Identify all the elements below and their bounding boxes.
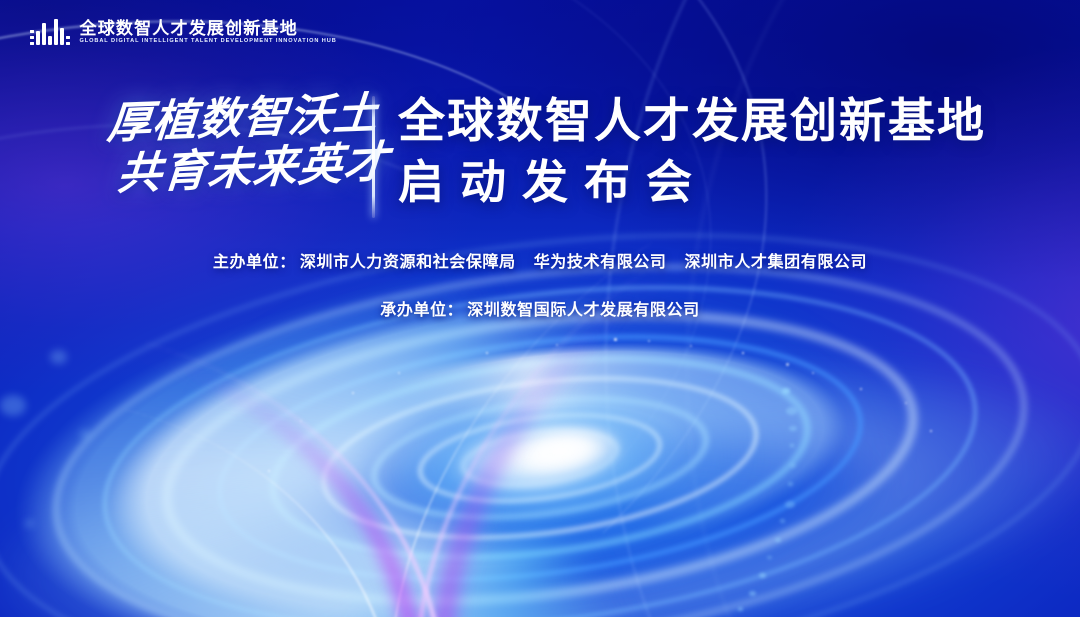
dotted-light-trail (0, 330, 350, 617)
title-line-1: 全球数智人才发展创新基地 (398, 96, 986, 147)
bokeh-dot (50, 350, 67, 364)
light-dot (790, 463, 796, 467)
title-divider (372, 96, 375, 218)
light-dot (759, 573, 766, 578)
coorganizer-line: 承办单位：深圳数智国际人才发展有限公司 (0, 296, 1080, 320)
host-organization: 华为技术有限公司 (534, 254, 667, 271)
event-banner: 全球数智人才发展创新基地 GLOBAL DIGITAL INTELLIGENT … (0, 0, 1080, 617)
brand-header: 全球数智人才发展创新基地 GLOBAL DIGITAL INTELLIGENT … (30, 18, 337, 46)
light-dot (785, 501, 795, 508)
bokeh-dot (80, 430, 90, 438)
light-dot (788, 482, 793, 486)
light-dot (780, 519, 785, 522)
light-dot (775, 538, 781, 543)
bokeh-dot (25, 520, 34, 527)
host-label: 主办单位： (213, 254, 296, 271)
bokeh-dot (0, 395, 26, 416)
organizer-block: 主办单位：深圳市人力资源和社会保障局华为技术有限公司深圳市人才集团有限公司 承办… (0, 248, 1080, 320)
host-organization: 深圳市人力资源和社会保障局 (300, 254, 516, 271)
light-dot (782, 388, 790, 393)
calligraphy-slogan: 厚植数智沃土 共育未来英才 (108, 96, 388, 192)
brand-name-en: GLOBAL DIGITAL INTELLIGENT TALENT DEVELO… (80, 39, 337, 45)
coorganizer-label: 承办单位： (380, 302, 463, 319)
host-line: 主办单位：深圳市人力资源和社会保障局华为技术有限公司深圳市人才集团有限公司 (0, 248, 1080, 272)
title-line-2: 启动发布会 (398, 157, 986, 208)
host-organization: 深圳市人才集团有限公司 (685, 254, 868, 271)
page-title: 全球数智人才发展创新基地 启动发布会 (398, 96, 986, 207)
equalizer-bars-logo-icon (30, 18, 70, 46)
light-dot (786, 407, 797, 415)
brand-name-cn: 全球数智人才发展创新基地 (80, 20, 337, 37)
coorganizer-organization: 深圳数智国际人才发展有限公司 (467, 302, 699, 319)
brand-lockup-text: 全球数智人才发展创新基地 GLOBAL DIGITAL INTELLIGENT … (80, 20, 337, 45)
light-dot (767, 556, 771, 559)
light-dot (749, 591, 756, 596)
slogan-line-2: 共育未来英才 (116, 140, 391, 198)
